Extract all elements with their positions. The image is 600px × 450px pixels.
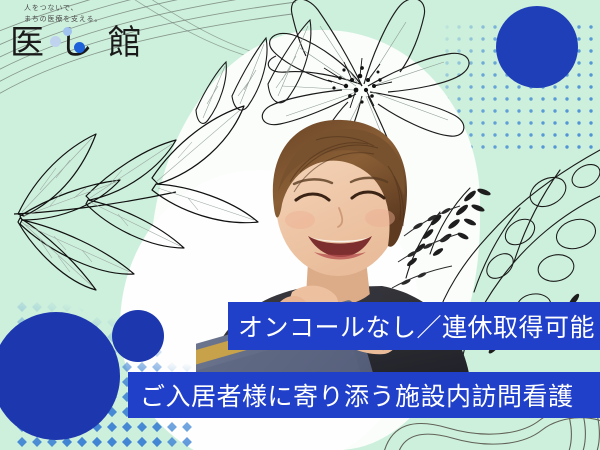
banner-service-text: ご入居者様に寄り添う施設内訪問看護 — [140, 377, 574, 413]
banner-service: ご入居者様に寄り添う施設内訪問看護 — [128, 372, 600, 418]
logo-dot-accent-icon — [74, 42, 85, 53]
brand-logo[interactable]: 人をつないで、 まちの医療を支える。 医 し 館 — [10, 4, 144, 60]
decor-circle-center — [112, 310, 164, 362]
logo-wordmark: 医 し 館 — [10, 26, 144, 60]
logo-tagline-line1: 人をつないで、 — [24, 4, 144, 15]
logo-dot-light-icon — [50, 36, 61, 47]
logo-dot-mid-icon — [63, 27, 72, 36]
banner-canvas: オンコールなし／連休取得可能 ご入居者様に寄り添う施設内訪問看護 人をつないで、… — [0, 0, 600, 450]
logo-tagline: 人をつないで、 まちの医療を支える。 — [24, 4, 144, 25]
banner-benefits-text: オンコールなし／連休取得可能 — [238, 308, 595, 344]
banner-benefits: オンコールなし／連休取得可能 — [228, 302, 600, 350]
